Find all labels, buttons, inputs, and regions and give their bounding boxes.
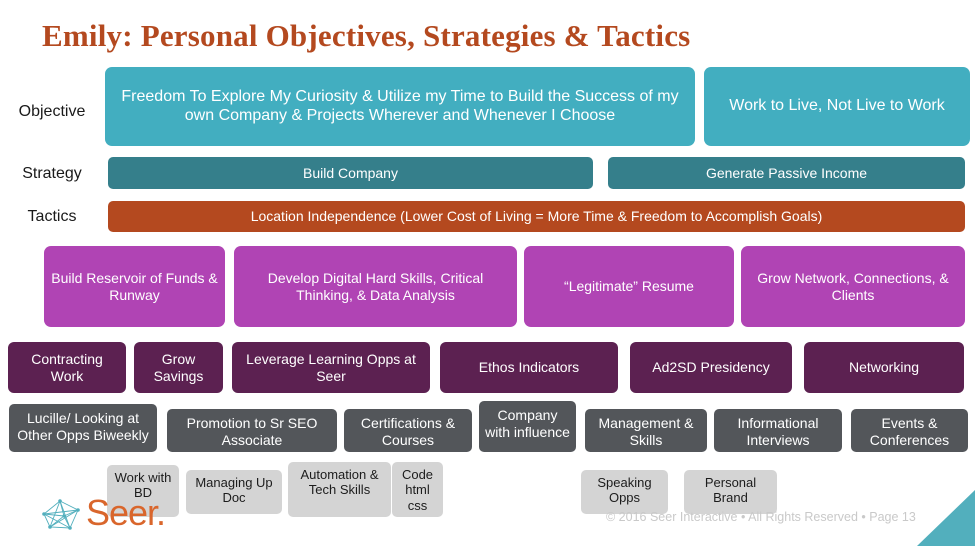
row-label-strategy: Strategy xyxy=(0,165,104,183)
seer-logo-wordmark: Seer. xyxy=(86,492,165,534)
gray-box-2[interactable]: Promotion to Sr SEO Associate xyxy=(167,409,337,452)
light-gray-box-6[interactable]: Personal Brand xyxy=(684,470,777,514)
dark-purple-box-5-text: Ad2SD Presidency xyxy=(636,359,786,376)
gray-box-2-text: Promotion to Sr SEO Associate xyxy=(173,415,331,448)
gray-box-3[interactable]: Certifications & Courses xyxy=(344,409,472,452)
light-gray-box-5[interactable]: Speaking Opps xyxy=(581,470,668,514)
objective-box-1[interactable]: Freedom To Explore My Curiosity & Utiliz… xyxy=(105,67,695,146)
magenta-box-4[interactable]: Grow Network, Connections, & Clients xyxy=(741,246,965,327)
objective-box-2-text: Work to Live, Not Live to Work xyxy=(710,97,964,116)
corner-triangle-decoration xyxy=(899,490,975,546)
row-label-objective: Objective xyxy=(0,103,104,121)
row-label-tactics: Tactics xyxy=(0,208,104,226)
magenta-box-2[interactable]: Develop Digital Hard Skills, Critical Th… xyxy=(234,246,517,327)
light-gray-box-4[interactable]: Code html css xyxy=(392,462,443,517)
gray-box-7[interactable]: Events & Conferences xyxy=(851,409,968,452)
strategy-box-1[interactable]: Build Company xyxy=(108,157,593,189)
dark-purple-box-1[interactable]: Contracting Work xyxy=(8,342,126,393)
dark-purple-box-1-text: Contracting Work xyxy=(14,351,120,384)
magenta-box-4-text: Grow Network, Connections, & Clients xyxy=(747,270,959,303)
dark-purple-box-5[interactable]: Ad2SD Presidency xyxy=(630,342,792,393)
gray-box-5[interactable]: Management & Skills xyxy=(585,409,707,452)
gray-box-4[interactable]: Company with influence xyxy=(479,401,576,452)
magenta-box-1[interactable]: Build Reservoir of Funds & Runway xyxy=(44,246,225,327)
light-gray-box-3-text: Automation & Tech Skills xyxy=(294,467,385,498)
dark-purple-box-4-text: Ethos Indicators xyxy=(446,359,612,376)
gray-box-6[interactable]: Informational Interviews xyxy=(714,409,842,452)
dark-purple-box-2-text: Grow Savings xyxy=(140,351,217,384)
magenta-box-3[interactable]: “Legitimate” Resume xyxy=(524,246,734,327)
gray-box-1[interactable]: Lucille/ Looking at Other Opps Biweekly xyxy=(9,404,157,452)
objective-box-2[interactable]: Work to Live, Not Live to Work xyxy=(704,67,970,146)
strategy-box-1-text: Build Company xyxy=(114,165,587,182)
copyright-text: © 2016 Seer Interactive • All Rights Res… xyxy=(606,510,916,524)
light-gray-box-5-text: Speaking Opps xyxy=(587,475,662,506)
tactics-bar-text: Location Independence (Lower Cost of Liv… xyxy=(114,208,959,225)
gray-box-3-text: Certifications & Courses xyxy=(350,415,466,448)
light-gray-box-3[interactable]: Automation & Tech Skills xyxy=(288,462,391,517)
seer-network-logo-icon xyxy=(40,498,82,532)
gray-box-4-text: Company with influence xyxy=(485,407,570,440)
tactics-bar[interactable]: Location Independence (Lower Cost of Liv… xyxy=(108,201,965,232)
slide-canvas: Emily: Personal Objectives, Strategies &… xyxy=(0,0,975,546)
dark-purple-box-4[interactable]: Ethos Indicators xyxy=(440,342,618,393)
dark-purple-box-2[interactable]: Grow Savings xyxy=(134,342,223,393)
strategy-box-2[interactable]: Generate Passive Income xyxy=(608,157,965,189)
light-gray-box-2-text: Managing Up Doc xyxy=(192,475,276,506)
gray-box-1-text: Lucille/ Looking at Other Opps Biweekly xyxy=(15,410,151,443)
dark-purple-box-6[interactable]: Networking xyxy=(804,342,964,393)
strategy-box-2-text: Generate Passive Income xyxy=(614,165,959,182)
dark-purple-box-3-text: Leverage Learning Opps at Seer xyxy=(238,351,424,384)
light-gray-box-6-text: Personal Brand xyxy=(690,475,771,506)
dark-purple-box-3[interactable]: Leverage Learning Opps at Seer xyxy=(232,342,430,393)
gray-box-5-text: Management & Skills xyxy=(591,415,701,448)
gray-box-6-text: Informational Interviews xyxy=(720,415,836,448)
magenta-box-1-text: Build Reservoir of Funds & Runway xyxy=(50,270,219,303)
light-gray-box-4-text: Code html css xyxy=(398,467,437,513)
seer-logo: Seer. xyxy=(40,496,200,540)
light-gray-box-2[interactable]: Managing Up Doc xyxy=(186,470,282,514)
page-title: Emily: Personal Objectives, Strategies &… xyxy=(42,18,690,54)
gray-box-7-text: Events & Conferences xyxy=(857,415,962,448)
magenta-box-2-text: Develop Digital Hard Skills, Critical Th… xyxy=(240,270,511,303)
objective-box-1-text: Freedom To Explore My Curiosity & Utiliz… xyxy=(111,88,689,126)
dark-purple-box-6-text: Networking xyxy=(810,359,958,376)
magenta-box-3-text: “Legitimate” Resume xyxy=(530,278,728,295)
